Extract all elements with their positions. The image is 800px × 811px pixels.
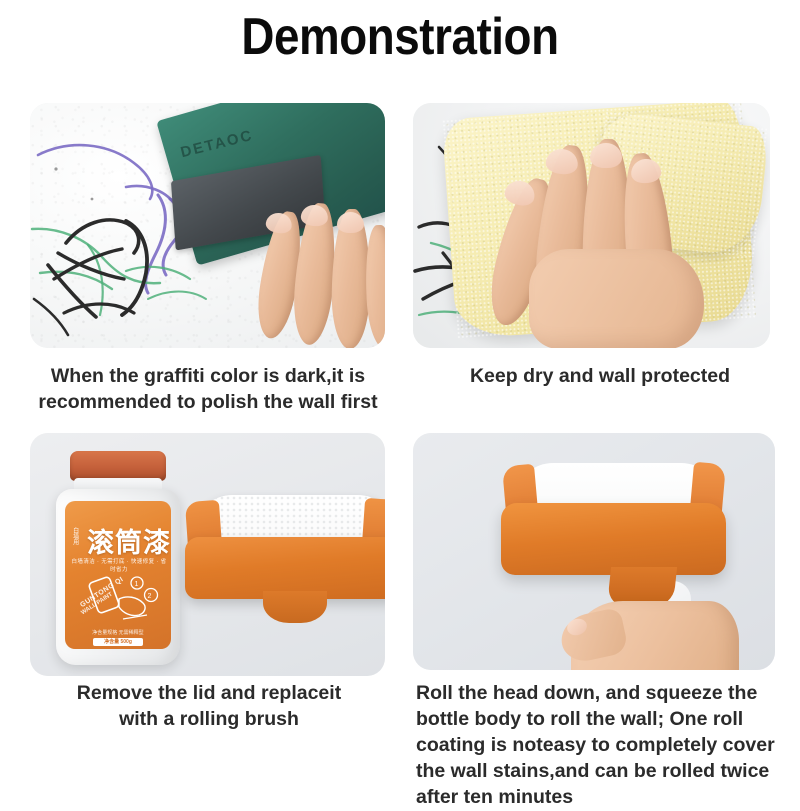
step-4-caption: Roll the head down, and squeeze the bott… [416, 681, 796, 811]
hand [561, 583, 741, 670]
hand [262, 203, 385, 348]
step-3-panel: 白墙用 滚筒漆 白墙清洁 · 无需打底 · 快速修复 · 省时省力 1 2 [30, 433, 385, 676]
step-2-photo [413, 103, 770, 348]
paint-bottle: 白墙用 滚筒漆 白墙清洁 · 无需打底 · 快速修复 · 省时省力 1 2 [52, 451, 187, 666]
svg-text:2: 2 [148, 593, 152, 600]
step-4-caption-line-5: after ten minutes [416, 785, 796, 811]
label-net-weight: 净含量 500g [93, 638, 143, 646]
step-2-caption: Keep dry and wall protected [410, 364, 790, 390]
step-3-caption-line-1: Remove the lid and replaceit [14, 681, 404, 707]
roller-frame [501, 503, 726, 575]
step-1-caption-line-1: When the graffiti color is dark,it is [18, 364, 398, 390]
step-4-panel [413, 433, 775, 670]
label-illustration: 1 2 GUNTONG QI WALL PAINT [75, 569, 161, 627]
step-2-panel [413, 103, 770, 348]
roller-stem [263, 591, 327, 623]
step-2-caption-line-1: Keep dry and wall protected [410, 364, 790, 390]
label-badge: 白墙用 [71, 527, 78, 545]
step-3-photo: 白墙用 滚筒漆 白墙清洁 · 无需打底 · 快速修复 · 省时省力 1 2 [30, 433, 385, 676]
step-4-photo [413, 433, 775, 670]
step-3-caption: Remove the lid and replaceit with a roll… [14, 681, 404, 733]
step-3-caption-line-2: with a rolling brush [14, 707, 404, 733]
page-title: Demonstration [48, 10, 752, 65]
svg-text:1: 1 [135, 581, 139, 588]
step-1-caption-line-2: recommended to polish the wall first [18, 390, 398, 416]
step-4-caption-line-2: bottle body to roll the wall; One roll [416, 707, 796, 733]
step-1-photo: DETAOC SM8 [30, 103, 385, 348]
bottle-label: 白墙用 滚筒漆 白墙清洁 · 无需打底 · 快速修复 · 省时省力 1 2 [65, 501, 171, 649]
hand [499, 129, 709, 344]
roller-brush-head [185, 495, 385, 645]
step-4-caption-line-3: coating is noteasy to completely cover [416, 733, 796, 759]
step-1-caption: When the graffiti color is dark,it is re… [18, 364, 398, 416]
bottle-cap [70, 451, 166, 481]
label-footer: 净含量规格 无需稀释型 [73, 629, 163, 636]
label-title: 滚筒漆 [87, 521, 171, 560]
step-1-panel: DETAOC SM8 [30, 103, 385, 348]
demonstration-infographic: Demonstration [0, 0, 800, 800]
roller-frame [185, 537, 385, 599]
step-4-caption-line-1: Roll the head down, and squeeze the [416, 681, 796, 707]
step-4-caption-line-4: the wall stains,and can be rolled twice [416, 759, 796, 785]
